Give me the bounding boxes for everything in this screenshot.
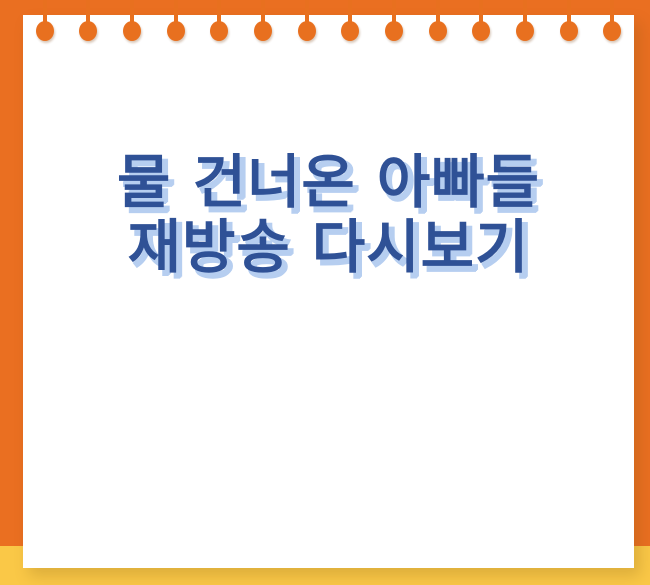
headline-line-2: 재방송 다시보기 xyxy=(23,215,634,280)
headline-line-1: 물 건너온 아빠들 xyxy=(23,150,634,215)
page-title: 물 건너온 아빠들 재방송 다시보기 xyxy=(23,150,634,280)
promo-banner: 물 건너온 아빠들 재방송 다시보기 xyxy=(0,0,650,585)
white-notecard xyxy=(23,15,634,568)
